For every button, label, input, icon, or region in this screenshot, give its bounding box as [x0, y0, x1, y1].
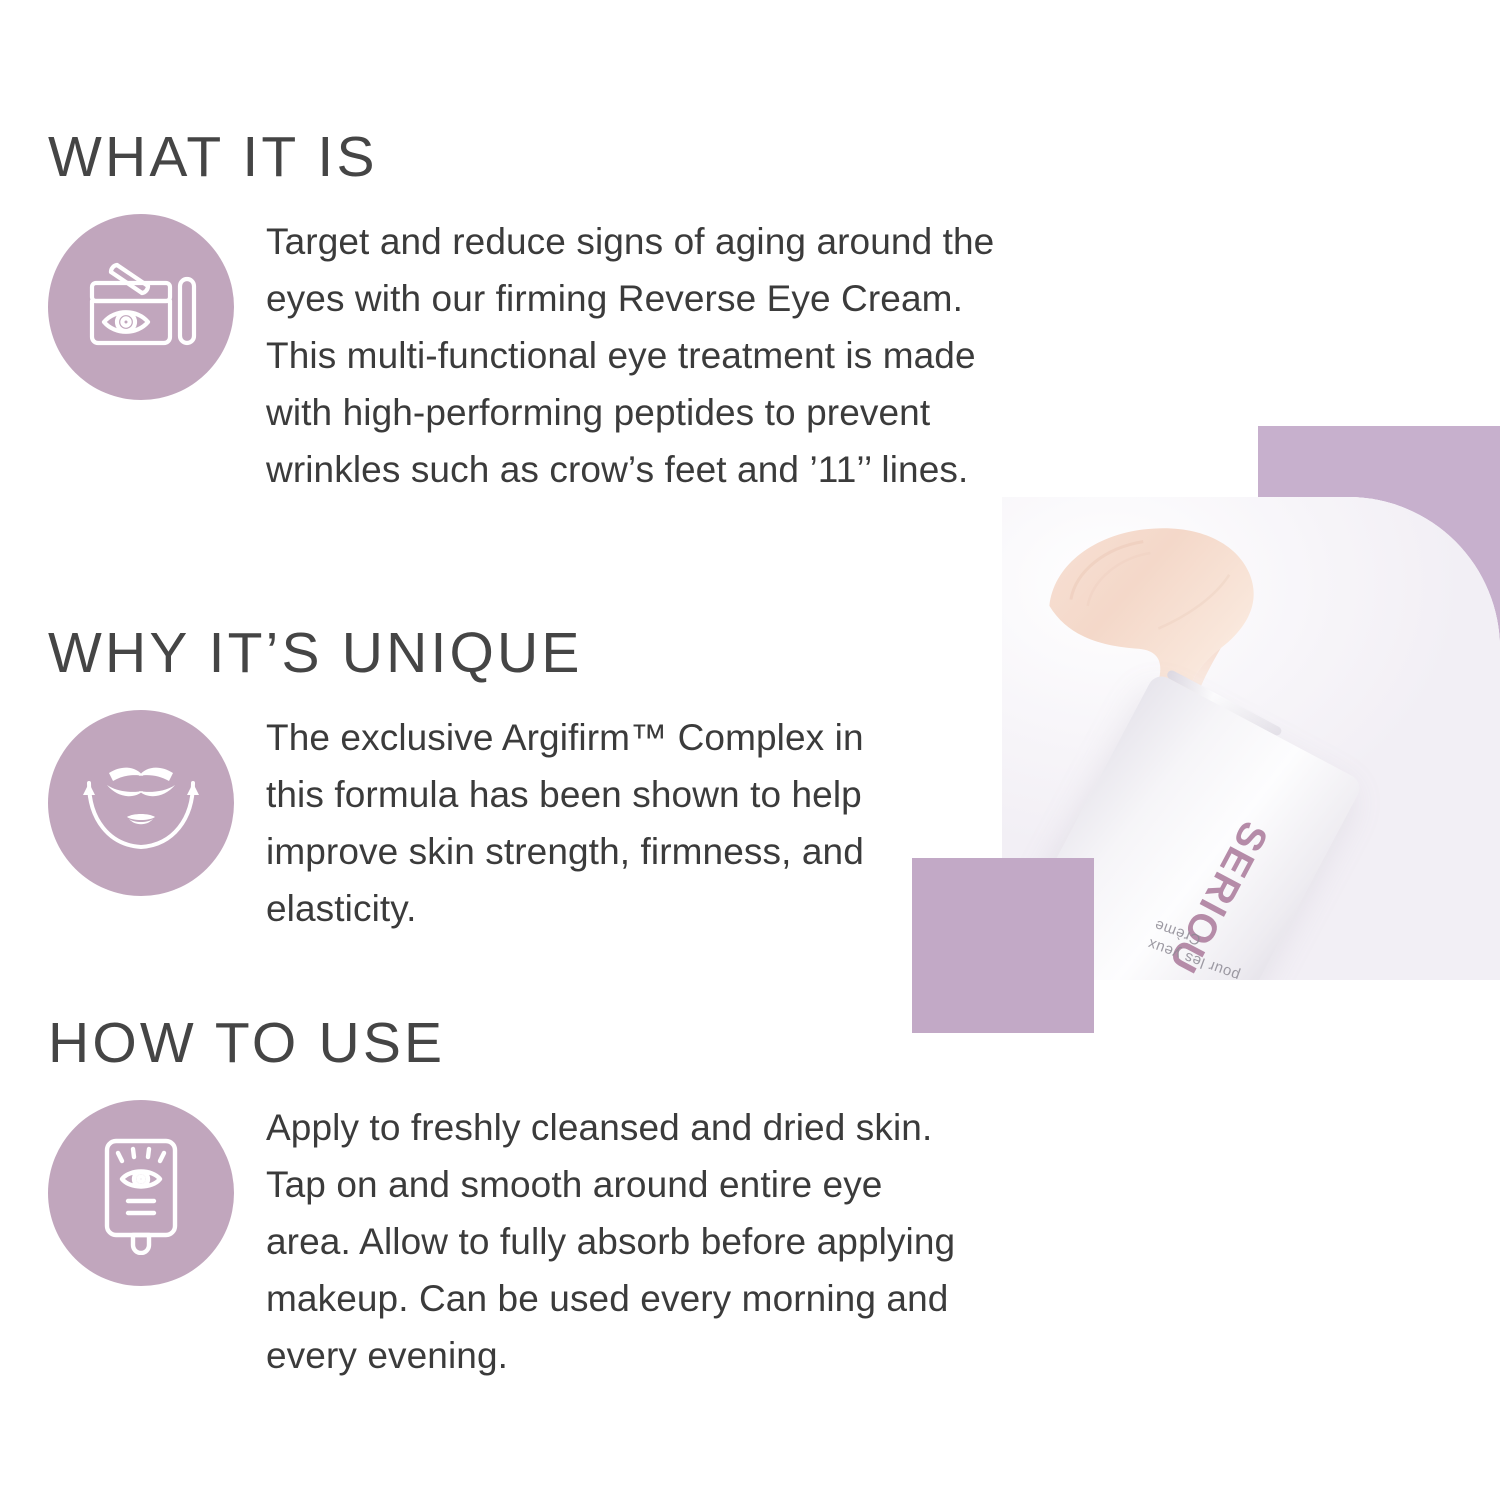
section-what-it-is: WHAT IT IS Targ [0, 128, 1010, 499]
section-how-to-use: HOW TO USE [0, 1014, 1010, 1385]
section-why-its-unique: WHY IT’S UNIQUE [0, 624, 1010, 938]
cream-jar-eye-icon [48, 214, 234, 400]
cream-tube-eye-icon [48, 1100, 234, 1286]
section-heading-how-to-use: HOW TO USE [48, 1014, 1010, 1074]
section-heading-what-it-is: WHAT IT IS [48, 128, 1010, 188]
section-heading-why-its-unique: WHY IT’S UNIQUE [48, 624, 1010, 684]
product-tube: SERIOU pour les yeux Crème [1090, 685, 1420, 980]
content-column: WHAT IT IS Targ [0, 0, 1010, 1500]
section-body-what-it-is: Target and reduce signs of aging around … [0, 214, 1010, 499]
section-body-how-to-use: Apply to freshly cleansed and dried skin… [0, 1100, 1010, 1385]
infographic-canvas: SERIOU pour les yeux Crème WHAT IT IS [0, 0, 1500, 1500]
section-body-why-its-unique: The exclusive Argifirm™ Complex in this … [0, 710, 1010, 938]
face-lift-arrows-icon [48, 710, 234, 896]
